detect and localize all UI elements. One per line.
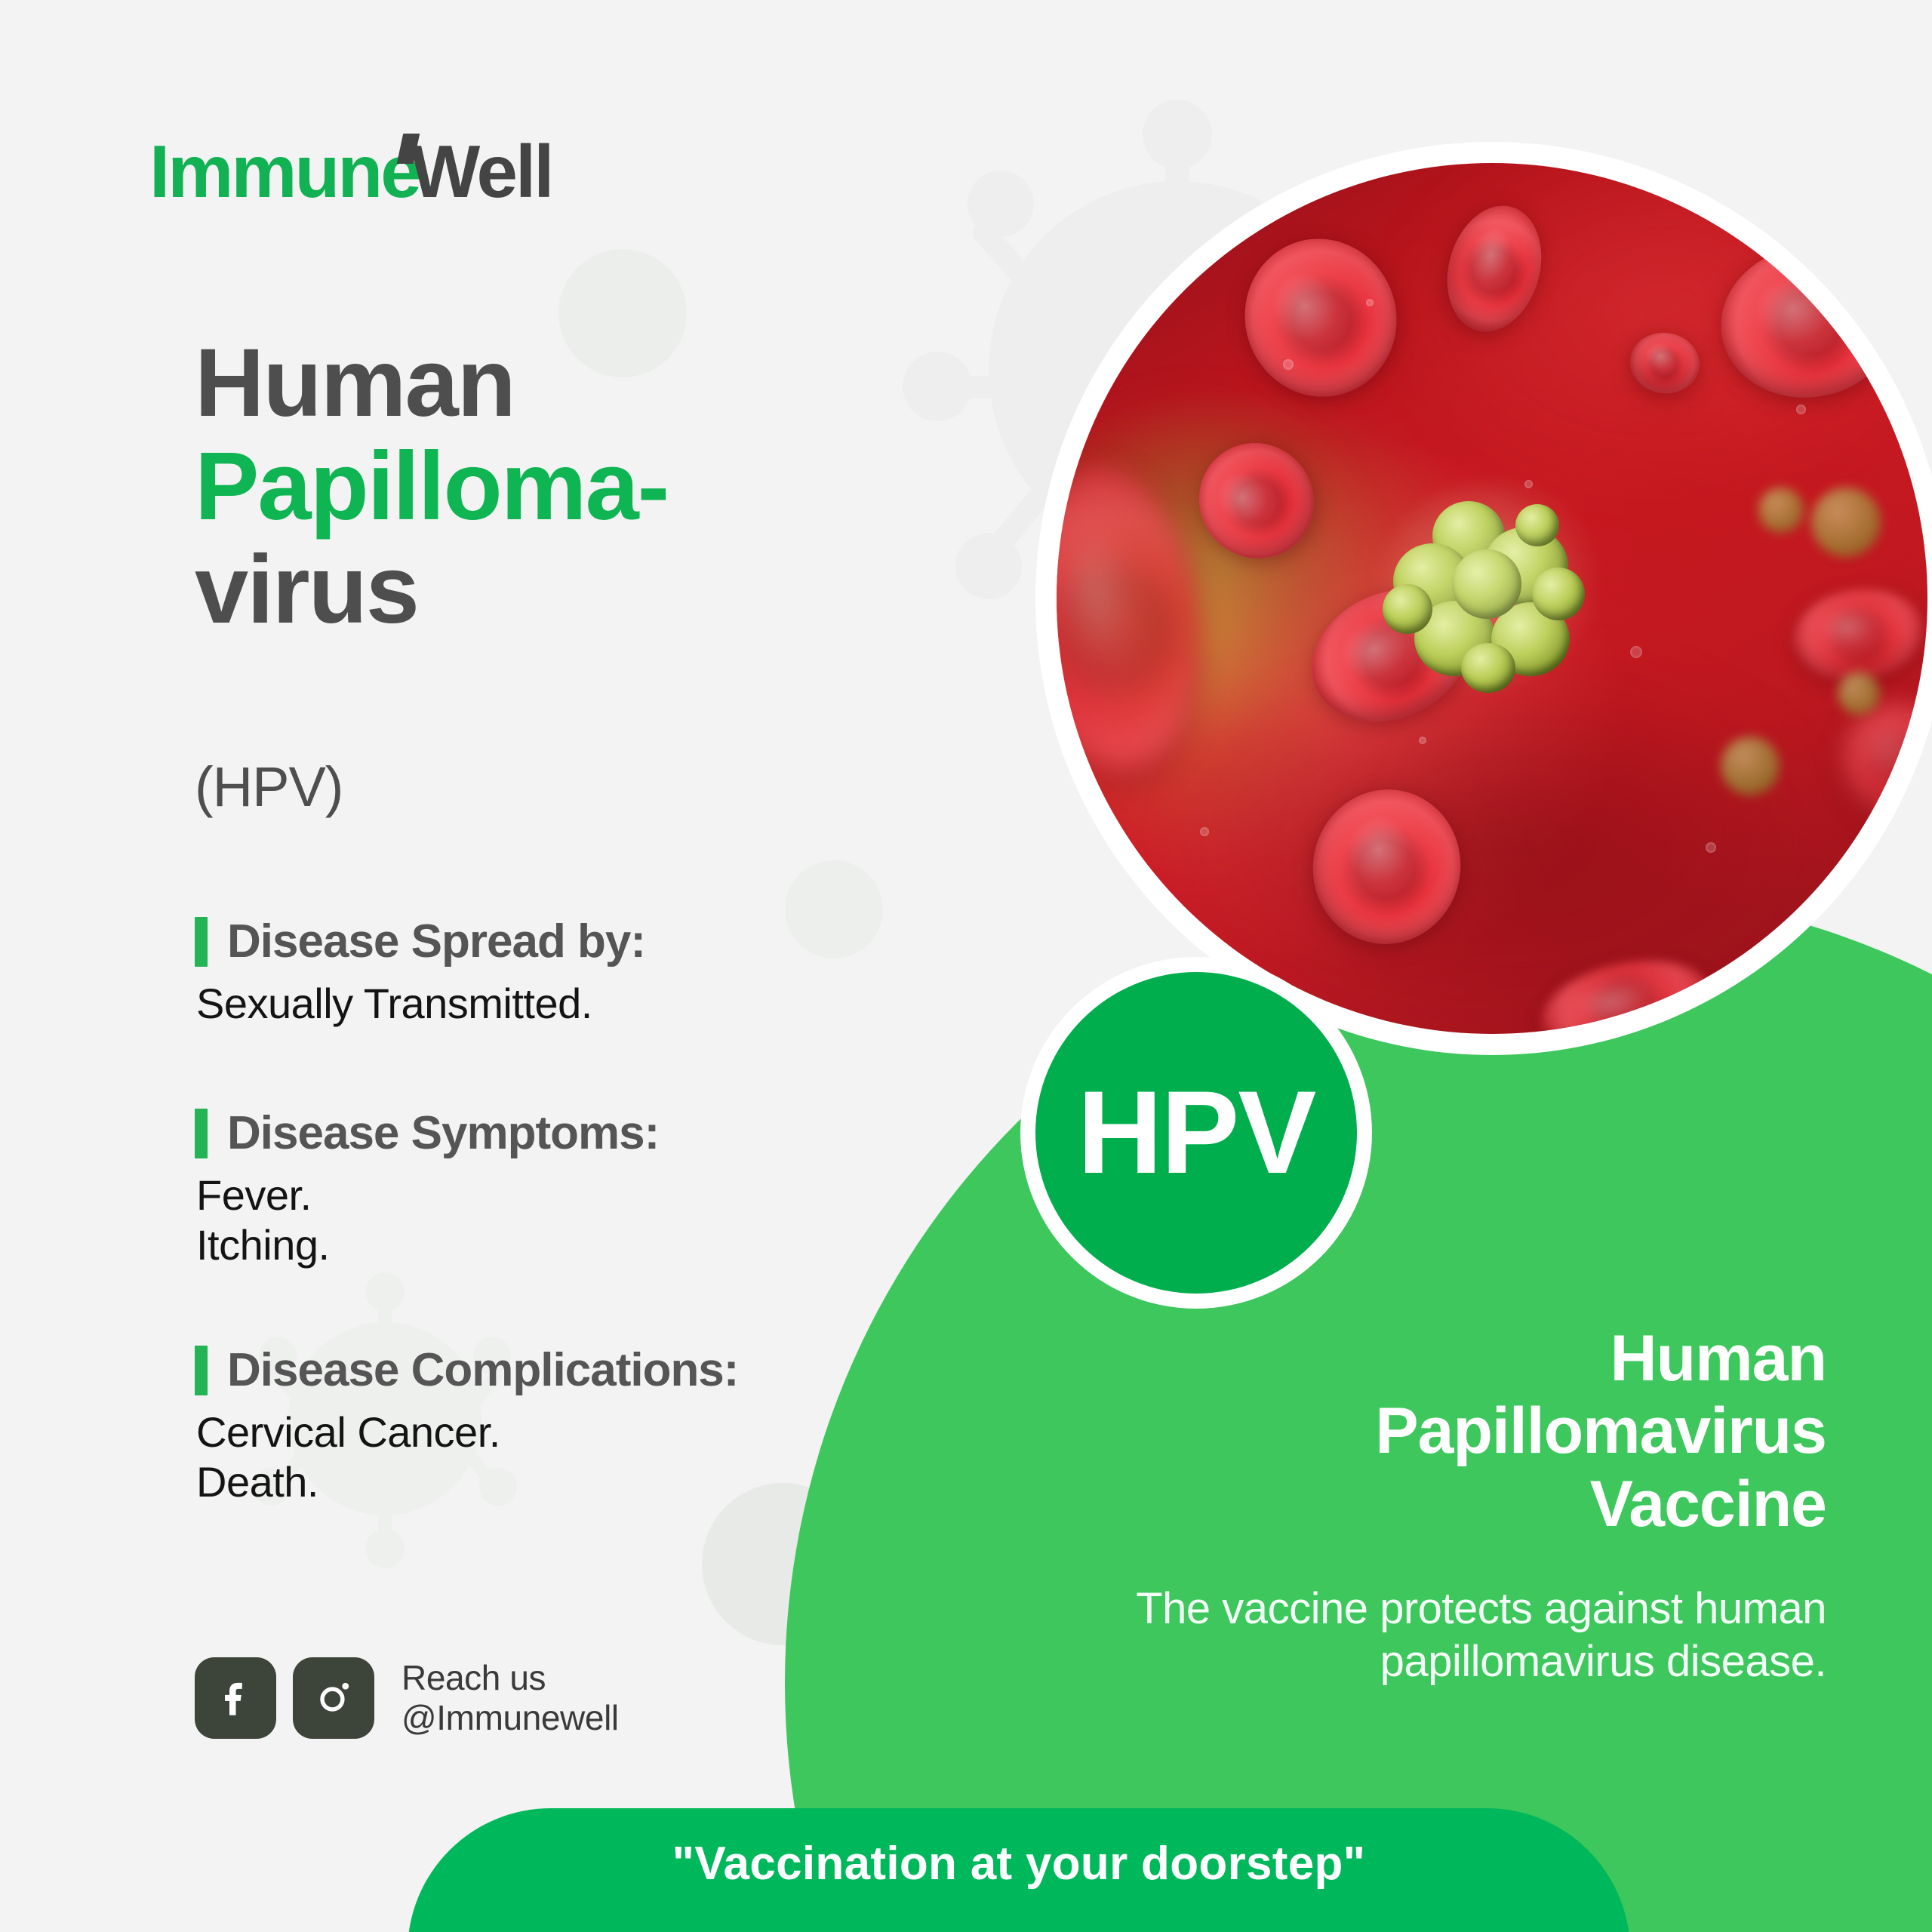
- title-line-2: Papilloma-: [195, 432, 668, 540]
- vaccine-info: Human Papillomavirus Vaccine The vaccine…: [1057, 1322, 1826, 1687]
- left-content-column: ImmuneWell Human Papilloma- virus (HPV) …: [0, 0, 936, 1932]
- poster-canvas: HPV ImmuneWell Human Papilloma- virus (H…: [0, 0, 1932, 1932]
- logo-text-green: Immun: [149, 130, 380, 213]
- section-line: Fever.: [196, 1171, 659, 1220]
- section-body: Fever. Itching.: [196, 1171, 659, 1270]
- social-handle: @Immunewell: [401, 1698, 619, 1738]
- page-title: Human Papilloma- virus: [195, 332, 668, 642]
- hero-blood-cells-image: [1057, 163, 1927, 1034]
- vaccine-title-line-1: Human: [1611, 1322, 1826, 1395]
- vaccine-description: The vaccine protects against human papil…: [1057, 1583, 1826, 1687]
- section-body: Sexually Transmitted.: [196, 979, 645, 1029]
- hpv-badge: HPV: [1035, 972, 1357, 1294]
- section-disease-spread: Disease Spread by: Sexually Transmitted.: [195, 915, 645, 1029]
- section-heading: Disease Complications:: [227, 1343, 738, 1397]
- title-line-1: Human: [195, 329, 515, 437]
- facebook-icon: [212, 1675, 259, 1721]
- vaccine-title-line-2: Papillomavirus: [1375, 1395, 1826, 1467]
- section-heading-row: Disease Symptoms:: [195, 1106, 659, 1160]
- logo-text-dark: Well: [411, 130, 552, 213]
- section-line: Sexually Transmitted.: [196, 979, 645, 1029]
- section-heading: Disease Symptoms:: [227, 1106, 659, 1160]
- accent-bar-icon: [195, 1346, 208, 1395]
- reach-us-label: Reach us: [401, 1658, 619, 1698]
- section-heading-row: Disease Complications:: [195, 1343, 738, 1397]
- social-links: Reach us @Immunewell: [195, 1657, 619, 1739]
- reach-us-text: Reach us @Immunewell: [401, 1658, 619, 1738]
- section-heading: Disease Spread by:: [227, 915, 645, 968]
- instagram-button[interactable]: [293, 1657, 374, 1739]
- accent-bar-icon: [195, 917, 208, 967]
- title-line-3: virus: [195, 536, 418, 644]
- section-disease-symptoms: Disease Symptoms: Fever. Itching.: [195, 1106, 659, 1270]
- section-line: Itching.: [196, 1220, 659, 1270]
- section-line: Death.: [196, 1457, 738, 1507]
- vaccine-title-line-3: Vaccine: [1590, 1468, 1826, 1540]
- brand-logo: ImmuneWell: [149, 134, 552, 208]
- title-abbreviation: (HPV): [195, 755, 343, 819]
- vaccine-title: Human Papillomavirus Vaccine: [1057, 1322, 1826, 1540]
- tagline-text: "Vaccination at your doorstep": [672, 1837, 1366, 1890]
- section-line: Cervical Cancer.: [196, 1407, 738, 1457]
- hpv-badge-label: HPV: [1078, 1074, 1315, 1192]
- accent-bar-icon: [195, 1109, 208, 1158]
- section-disease-complications: Disease Complications: Cervical Cancer. …: [195, 1343, 738, 1507]
- facebook-button[interactable]: [195, 1657, 276, 1739]
- section-heading-row: Disease Spread by:: [195, 915, 645, 968]
- section-body: Cervical Cancer. Death.: [196, 1407, 738, 1507]
- tagline-banner: "Vaccination at your doorstep": [408, 1808, 1630, 1932]
- instagram-icon: [310, 1675, 357, 1721]
- virus-particle: [1389, 495, 1600, 699]
